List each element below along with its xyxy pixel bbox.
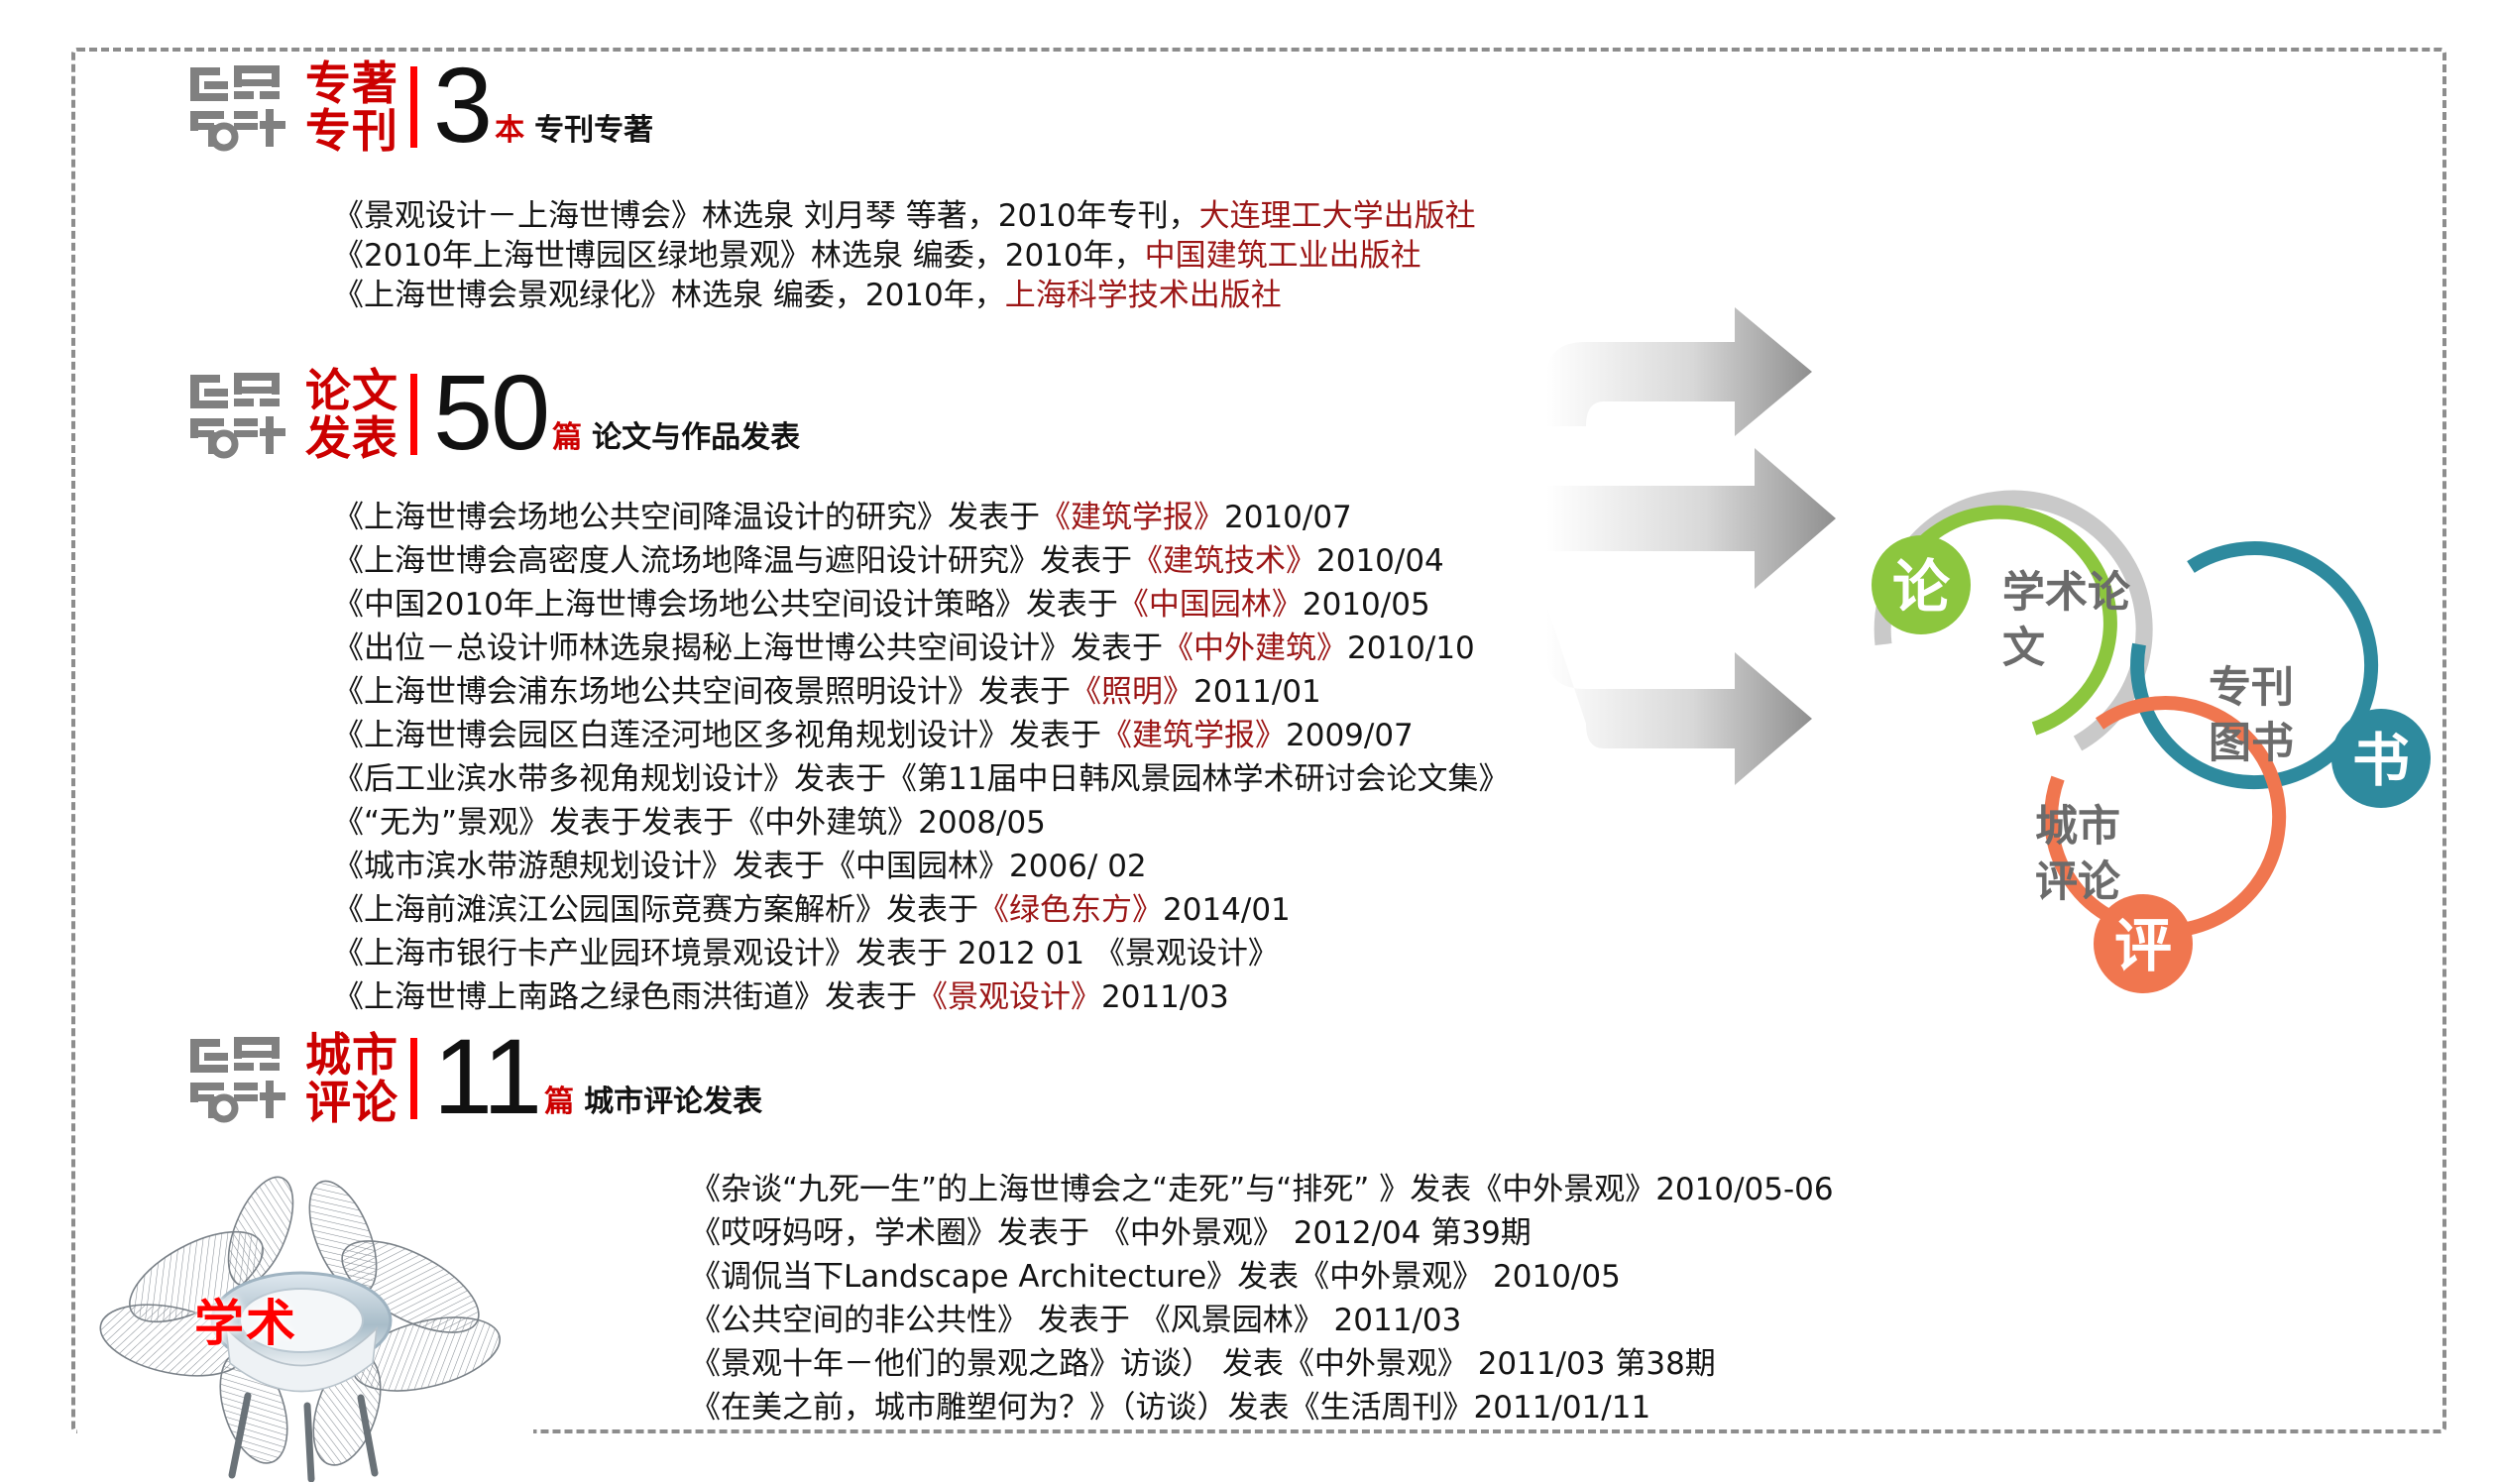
papers-list: 《上海世博会场地公共空间降温设计的研究》发表于《建筑学报》2010/07 《上海…: [333, 496, 1509, 1019]
list-item: 《杂谈“九死一生”的上海世博会之“走死”与“排死” 》发表《中外景观》2010/…: [690, 1168, 1834, 1211]
section-papers-divider: [410, 374, 417, 455]
book-publisher: 上海科学技术出版社: [1005, 278, 1282, 313]
list-item: 《上海世博会场地公共空间降温设计的研究》发表于《建筑学报》2010/07: [333, 496, 1509, 539]
paper-journal: 《建筑技术》: [1132, 543, 1316, 579]
list-item: 《调侃当下Landscape Architecture》发表《中外景观》 201…: [690, 1255, 1834, 1299]
list-item: 《在美之前，城市雕塑何为？》（访谈）发表《生活周刊》2011/01/11: [690, 1386, 1834, 1429]
list-item: 《公共空间的非公共性》 发表于 《风景园林》 2011/03: [690, 1299, 1834, 1342]
list-item: 《上海世博会景观绿化》林选泉 编委，2010年，上海科学技术出版社: [333, 276, 1476, 315]
linxuanquan-design-logo-icon: [184, 369, 291, 460]
section-city-reviews-title: 城市 评论: [305, 1031, 398, 1126]
diagram-label-reviews-1: 城市: [2035, 802, 2120, 852]
list-item: 《哎呀妈呀，学术圈》发表于 《中外景观》 2012/04 第39期: [690, 1211, 1834, 1255]
paper-journal: 《绿色东方》: [978, 892, 1163, 928]
paper-date: 2010/07: [1224, 500, 1352, 535]
paper-journal: 《照明》: [1071, 674, 1193, 710]
books-list: 《景观设计－上海世博会》林选泉 刘月琴 等著，2010年专刊，大连理工大学出版社…: [333, 196, 1476, 315]
list-item: 《上海世博会高密度人流场地降温与遮阳设计研究》发表于《建筑技术》2010/04: [333, 539, 1509, 583]
section-city-reviews-unit: 篇: [544, 1077, 574, 1120]
section-city-reviews-subtitle: 城市评论发表: [584, 1077, 762, 1120]
section-papers-unit: 篇: [552, 412, 582, 456]
diagram-badge-papers-text: 论: [1892, 553, 1951, 621]
review-entry: 《哎呀妈呀，学术圈》发表于 《中外景观》 2012/04 第39期: [690, 1215, 1532, 1251]
paper-title: 《上海世博会高密度人流场地降温与遮阳设计研究》发表于: [333, 543, 1132, 579]
list-item: 《景观十年－他们的景观之路》访谈） 发表《中外景观》 2011/03 第38期: [690, 1342, 1834, 1386]
city-reviews-list: 《杂谈“九死一生”的上海世博会之“走死”与“排死” 》发表《中外景观》2010/…: [690, 1168, 1834, 1429]
wire-mesh-flower-sculpture-image: [77, 1160, 533, 1482]
paper-title: 《上海世博会园区白莲泾河地区多视角规划设计》发表于: [333, 718, 1101, 753]
book-entry-text: 《上海世博会景观绿化》林选泉 编委，2010年，: [333, 278, 1005, 313]
paper-date: 2010/10: [1347, 630, 1475, 666]
arrow-to-books: [1546, 448, 1836, 589]
paper-title: 《上海世博会场地公共空间降温设计的研究》发表于: [333, 500, 1040, 535]
paper-title: 《上海世博会浦东场地公共空间夜景照明设计》发表于: [333, 674, 1071, 710]
paper-journal: 《中外建筑》: [1163, 630, 1347, 666]
paper-title: 《上海市银行卡产业园环境景观设计》发表于 2012 01 《景观设计》: [333, 936, 1279, 971]
paper-date: 2009/07: [1286, 718, 1414, 753]
diagram-label-books-1: 专刊: [2209, 663, 2294, 713]
list-item: 《上海市银行卡产业园环境景观设计》发表于 2012 01 《景观设计》: [333, 932, 1509, 975]
diagram-label-papers-2: 文: [2002, 624, 2045, 673]
paper-journal: 《建筑学报》: [1101, 718, 1286, 753]
section-header-papers: 论文 发表 50 篇 论文与作品发表: [184, 367, 800, 462]
diagram-badge-reviews-text: 评: [2114, 912, 2172, 979]
section-city-reviews-count: 11: [433, 1035, 540, 1118]
list-item: 《上海世博会园区白莲泾河地区多视角规划设计》发表于《建筑学报》2009/07: [333, 714, 1509, 757]
section-header-books: 专著 专刊 3 本 专刊专著: [184, 59, 653, 155]
paper-title: 《上海前滩滨江公园国际竞赛方案解析》发表于: [333, 892, 978, 928]
list-item: 《景观设计－上海世博会》林选泉 刘月琴 等著，2010年专刊，大连理工大学出版社: [333, 196, 1476, 236]
paper-date: 2010/04: [1316, 543, 1444, 579]
list-item: 《出位－总设计师林选泉揭秘上海世博公共空间设计》发表于《中外建筑》2010/10: [333, 627, 1509, 670]
section-papers-title-line2: 发表: [305, 414, 398, 462]
list-item: 《中国2010年上海世博会场地公共空间设计策略》发表于《中国园林》2010/05: [333, 583, 1509, 627]
diagram-badge-reviews[interactable]: 评: [2094, 894, 2193, 993]
diagram-badge-books[interactable]: 书: [2331, 709, 2431, 808]
paper-title: 《中国2010年上海世博会场地公共空间设计策略》发表于: [333, 587, 1118, 623]
section-city-reviews-divider: [410, 1038, 417, 1119]
diagram-label-books-2: 图书: [2209, 719, 2294, 768]
paper-date: 2010/05: [1303, 587, 1430, 623]
section-header-city-reviews: 城市 评论 11 篇 城市评论发表: [184, 1031, 762, 1126]
list-item: 《城市滨水带游憩规划设计》发表于《中国园林》2006/ 02: [333, 845, 1509, 888]
section-books-title-line2: 专刊: [305, 107, 398, 155]
book-entry-text: 《2010年上海世博园区绿地景观》林选泉 编委，2010年，: [333, 238, 1145, 274]
linxuanquan-design-logo-icon: [184, 61, 291, 153]
list-item: 《上海前滩滨江公园国际竞赛方案解析》发表于《绿色东方》2014/01: [333, 888, 1509, 932]
list-item: 《“无为”景观》发表于发表于《中外建筑》2008/05: [333, 801, 1509, 845]
category-circle-diagram: 论 书 评 学术论 文 专刊 图书 城市 评论: [1824, 436, 2458, 1011]
paper-title: 《出位－总设计师林选泉揭秘上海世博公共空间设计》发表于: [333, 630, 1163, 666]
paper-journal: 《建筑学报》: [1040, 500, 1224, 535]
section-papers-title-line1: 论文: [305, 367, 398, 414]
diagram-label-papers-1: 学术论: [2002, 568, 2131, 618]
review-entry: 《在美之前，城市雕塑何为？》（访谈）发表《生活周刊》2011/01/11: [690, 1390, 1650, 1426]
section-books-unit: 本: [495, 105, 524, 149]
list-item: 《上海世博上南路之绿色雨洪街道》发表于《景观设计》2011/03: [333, 975, 1509, 1019]
paper-title: 《城市滨水带游憩规划设计》发表于《中国园林》2006/ 02: [333, 849, 1147, 884]
section-books-count: 3: [433, 63, 491, 147]
list-item: 《后工业滨水带多视角规划设计》发表于《第11届中日韩风景园林学术研讨会论文集》: [333, 757, 1509, 801]
section-papers-subtitle: 论文与作品发表: [592, 412, 800, 456]
paper-title: 《后工业滨水带多视角规划设计》发表于《第11届中日韩风景园林学术研讨会论文集》: [333, 761, 1509, 797]
infographic-page: 论 书 评 学术论 文 专刊 图书 城市 评论: [0, 0, 2498, 1484]
review-entry: 《杂谈“九死一生”的上海世博会之“走死”与“排死” 》发表《中外景观》2010/…: [690, 1172, 1834, 1207]
section-papers-title: 论文 发表: [305, 367, 398, 462]
sculpture-caption: 学术: [194, 1284, 297, 1355]
section-books-title: 专著 专刊: [305, 59, 398, 155]
linxuanquan-design-logo-icon: [184, 1033, 291, 1124]
section-papers-count: 50: [433, 371, 548, 454]
section-city-reviews-title-line2: 评论: [305, 1079, 398, 1126]
list-item: 《上海世博会浦东场地公共空间夜景照明设计》发表于《照明》2011/01: [333, 670, 1509, 714]
diagram-label-reviews-2: 评论: [2035, 857, 2121, 907]
section-books-subtitle: 专刊专著: [534, 105, 653, 149]
paper-date: 2011/01: [1193, 674, 1321, 710]
section-books-title-line1: 专著: [305, 59, 398, 107]
section-city-reviews-title-line1: 城市: [305, 1031, 398, 1079]
paper-title: 《上海世博上南路之绿色雨洪街道》发表于: [333, 979, 917, 1015]
list-item: 《2010年上海世博园区绿地景观》林选泉 编委，2010年，中国建筑工业出版社: [333, 236, 1476, 276]
paper-date: 2014/01: [1163, 892, 1291, 928]
review-entry: 《公共空间的非公共性》 发表于 《风景园林》 2011/03: [690, 1303, 1461, 1338]
review-entry: 《景观十年－他们的景观之路》访谈） 发表《中外景观》 2011/03 第38期: [690, 1346, 1716, 1382]
paper-journal: 《中国园林》: [1118, 587, 1303, 623]
book-publisher: 大连理工大学出版社: [1199, 198, 1476, 234]
diagram-badge-books-text: 书: [2352, 727, 2410, 794]
book-publisher: 中国建筑工业出版社: [1145, 238, 1421, 274]
arrow-to-papers: [1546, 307, 1812, 436]
book-entry-text: 《景观设计－上海世博会》林选泉 刘月琴 等著，2010年专刊，: [333, 198, 1199, 234]
arrow-to-reviews: [1546, 605, 1812, 785]
paper-date: 2011/03: [1101, 979, 1229, 1015]
paper-title: 《“无为”景观》发表于发表于《中外建筑》2008/05: [333, 805, 1046, 841]
diagram-badge-papers[interactable]: 论: [1872, 535, 1971, 634]
paper-journal: 《景观设计》: [917, 979, 1101, 1015]
review-entry: 《调侃当下Landscape Architecture》发表《中外景观》 201…: [690, 1259, 1621, 1295]
section-books-divider: [410, 66, 417, 148]
